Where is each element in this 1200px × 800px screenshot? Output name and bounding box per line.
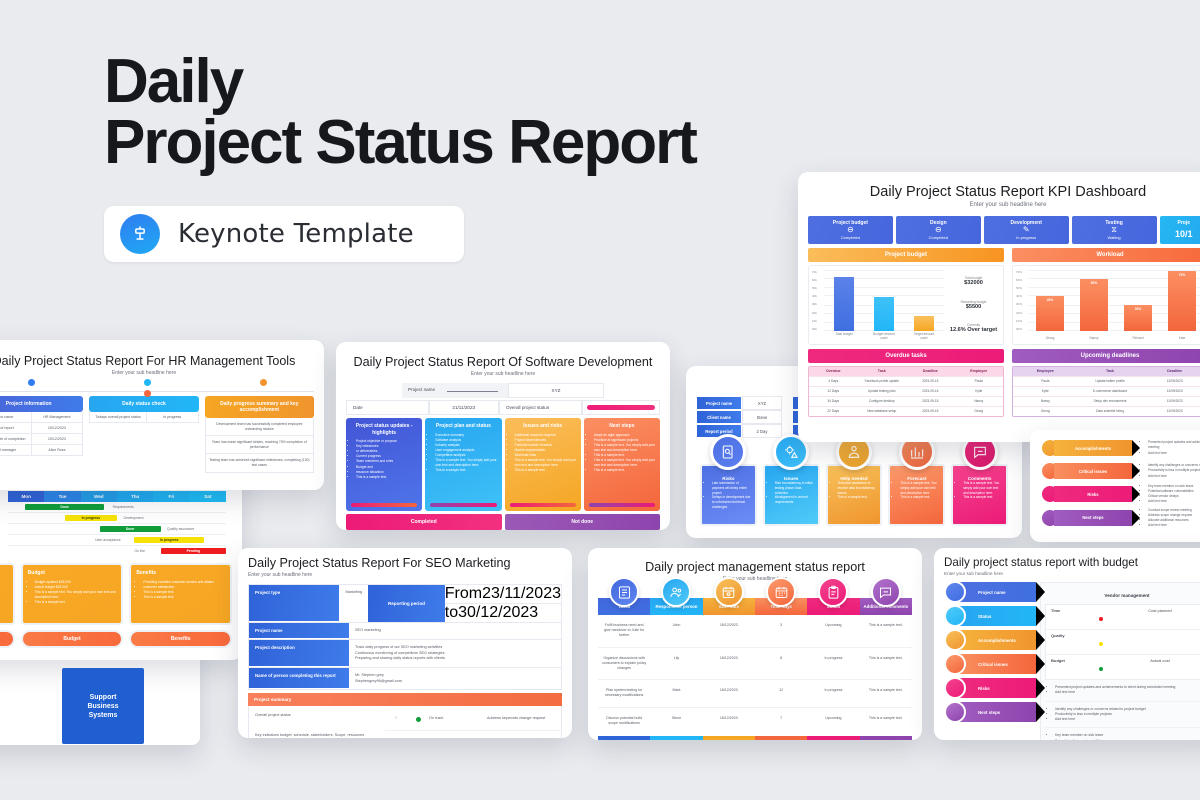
field-value: Marketing [339, 585, 368, 622]
summary-value: $32000 [947, 280, 1000, 286]
bullet: This is a sample text. You simply add yo… [435, 458, 497, 468]
chevron-label: Next steps [958, 702, 1036, 722]
bullet: This is a sample text. [356, 475, 418, 480]
gantt-day-wed: Wed [81, 491, 117, 502]
item-label: Next steps [978, 710, 1000, 715]
page-title: Daily Project Status Report [104, 52, 744, 174]
bullet-group: Identify any challenges or concerns rela… [1045, 702, 1200, 729]
table-row: Report period 2 Day [696, 424, 782, 438]
workload-bar-chart: 70%60%50%40%30%20%10%00% 40% 60% 30% 70% [1012, 265, 1200, 345]
table-header-row: Employee Task Deadline [1013, 367, 1200, 376]
alert-icon [944, 653, 966, 675]
slide-subtitle: Enter your sub headline here [598, 576, 912, 582]
budget-item-critical-issues[interactable]: Critical issues [944, 654, 1036, 674]
mgmt-table: Tasks Responsible person Start date Tota… [598, 598, 912, 740]
cell: This is a sample text. [860, 648, 912, 680]
column-progress-bar [589, 503, 655, 508]
table-row: Project description Track daily progress… [249, 640, 561, 668]
cell: 2023-09-15 [906, 386, 955, 396]
cell: Update testing plan [858, 386, 907, 396]
hr-column-daily-progress: Daily progress summary and key accomplis… [205, 396, 314, 473]
status-dot [407, 709, 429, 727]
chevron-label: Accomplishments [1054, 440, 1132, 456]
cell: Paula [955, 376, 1004, 386]
table-row: Kylie E-commerce dashboard 12/09/2023 [1013, 386, 1200, 396]
column-header: Deadline [906, 367, 955, 376]
far-row-next-steps[interactable]: Next steps Conduct scope review meeting … [1040, 508, 1200, 529]
field-value-date: 21/11/2023 [429, 400, 500, 415]
row-name: Quality [1046, 630, 1090, 654]
mid-card-comments[interactable]: Comments This is a sample text. You simp… [951, 464, 1008, 526]
row-key: Client name [696, 410, 742, 424]
slide-management-status-report[interactable]: Daily project management status report E… [588, 548, 922, 740]
gantt-row: Done Requirements [8, 502, 226, 513]
cell: In progress [807, 680, 859, 706]
row-value: Actual cost [1112, 655, 1200, 679]
column-header: Daily status check [89, 396, 198, 412]
row-label: Risks [1087, 492, 1098, 497]
slide-title: Daily project management status report [598, 560, 912, 574]
slide-kpi-dashboard[interactable]: Daily Project Status Report KPI Dashboar… [798, 172, 1200, 442]
slide-title: Daily Project Status Report For SEO Mark… [248, 556, 562, 570]
gantt-day-tue: Tue [44, 491, 80, 502]
row-value: XYZ [742, 396, 782, 410]
poster-stage: Daily Project Status Report Keynote Temp… [0, 0, 1200, 800]
cell: Setup dev environment [1078, 396, 1143, 406]
column-progress-bar [510, 503, 576, 508]
card-body: Forecast This is a sample text. You simp… [888, 464, 945, 526]
slide-seo-marketing[interactable]: Daily Project Status Report For SEO Mark… [238, 548, 572, 738]
slide-report-with-budget[interactable]: Daily project status report with budget … [934, 548, 1200, 740]
row-value: 15/12/2023 [31, 434, 83, 444]
chevron-label: Next steps [1054, 510, 1132, 526]
keynote-template-badge[interactable]: Keynote Template [104, 206, 464, 262]
cell: 12 Days [809, 386, 858, 396]
row-name: Budget [1046, 655, 1090, 679]
sw-column-issues-risks[interactable]: Issues and risks Additional resource req… [505, 418, 581, 511]
gantt-day-fri: Fri [153, 491, 189, 502]
pen-icon: ✎ [986, 226, 1067, 235]
item-label: Accomplishments [978, 638, 1016, 643]
calendar-days-icon [766, 577, 796, 607]
slide-title: Daily Project Status Report For HR Manag… [0, 354, 314, 368]
mid-card-risks[interactable]: Risks Late submission of payment will de… [700, 464, 757, 526]
column-progress-bar [351, 503, 417, 508]
budget-item-accomplishments[interactable]: Accomplishments [944, 630, 1036, 650]
row-key: Project name [0, 412, 31, 422]
cell: Configure desktop [858, 396, 907, 406]
table-row: Date of report 15/12/2023 [0, 423, 83, 434]
kpi-phase-design[interactable]: Design ⊖ Completed [896, 216, 981, 244]
table-header-row: Overdue Task Deadline Employee [809, 367, 1003, 376]
timeline-divider [0, 382, 314, 392]
bullet-group: Presented project updates and achievemen… [1045, 680, 1200, 702]
column-header: Task [1078, 367, 1143, 376]
timeline-dot [144, 390, 151, 397]
steps-icon [944, 701, 966, 723]
field-value: Track daily progress of our SEO marketin… [349, 640, 561, 667]
cell: New database setup [858, 406, 907, 416]
warning-people-icon [944, 677, 966, 699]
panel-header: Upcoming deadlines [1012, 349, 1200, 363]
table-row: Todays overall project status In progres… [89, 412, 198, 423]
far-row-accomplishments[interactable]: Accomplishments Presented project update… [1040, 438, 1200, 458]
bullet: This is a sample text. You simply add yo… [900, 481, 939, 495]
reporting-period-table: From23/11/2023 to30/12/2023 [445, 585, 561, 622]
bullet: Add text here [1055, 690, 1200, 695]
chart-plot: Total budgetBudget amount usedTarget amo… [824, 270, 944, 340]
bullet: Technical assistance to resolve data inc… [838, 481, 877, 495]
budget-item-project-name[interactable]: Project name [944, 582, 1036, 602]
radio-icon[interactable]: ○ [385, 715, 407, 721]
seo-fields-table: Project type Marketing Reporting period … [248, 584, 562, 690]
column-header: Employee [1013, 367, 1078, 376]
bullet: Late submission of payment will delay en… [712, 481, 751, 495]
sw-column-plan-status[interactable]: Project plan and status Executive summar… [425, 418, 501, 511]
cell: Organize discussions with consumers to e… [598, 648, 650, 680]
row-value: HR Management [31, 412, 83, 422]
period-to-label: to [445, 604, 458, 622]
minus-circle-icon: ⊖ [810, 226, 891, 235]
column-header-additional-comments: Additional comments [860, 598, 912, 615]
gantt-chart: Mon Tue Wed Thu Fri Sat Done Requirement… [8, 491, 226, 557]
kpi-phase-project-progress[interactable]: Proje 10/1 [1160, 216, 1200, 244]
panel-header: Workload [1012, 248, 1200, 262]
timeline-dot [260, 379, 267, 386]
phase-status: In progress [986, 235, 1067, 240]
table-row: Name of person completing this report Mr… [249, 668, 561, 689]
pill-button-benefits[interactable]: Benefits [129, 630, 232, 648]
bullet: This is a sample text. You simply add yo… [515, 458, 577, 468]
chart-y-axis: 70%60%50%40%30%20%10%00% [1016, 270, 1028, 340]
chart-x-axis: GeorgNancyRichardKate [1028, 336, 1200, 340]
phase-status: Completed [898, 235, 979, 240]
hourglass-icon: ⧖ [1074, 226, 1155, 235]
cell: 7 [755, 708, 807, 734]
mid-card-issues[interactable]: Issues Risk inconsistency in initial tes… [763, 464, 820, 526]
cell: 16/12/2023 [703, 648, 755, 680]
budget-item-status[interactable]: Status [944, 606, 1036, 626]
period-from-label: From [445, 585, 482, 603]
reporting-period-label: Reporting period [368, 585, 445, 622]
bar-target-amount-used [914, 316, 933, 331]
cell: Upcoming [807, 615, 859, 647]
bullet: Potential software vulnerabilities [1055, 739, 1200, 740]
item-label: Status [978, 614, 991, 619]
seo-status-rows: ○On trackAddress keywords change request… [385, 706, 561, 738]
vendor-management-label: Vendor management [1045, 587, 1200, 604]
table-row: Discuss potential build scope modificati… [598, 708, 912, 734]
status-action: Address keywords change request [487, 716, 561, 720]
column-header: Project plan and status [429, 423, 497, 430]
bullet: Add text here [1055, 717, 1200, 722]
table-row: Organize discussions with consumers to e… [598, 648, 912, 681]
mid-card-forecast[interactable]: Forecast This is a sample text. You simp… [888, 464, 945, 526]
bullet: This is a sample text. You simply add yo… [594, 443, 656, 453]
budget-summary: Total budget $32000 Remaining budget $55… [944, 270, 1000, 340]
card-body: Help needed Technical assistance to reso… [826, 464, 883, 526]
card-bullet: ating [0, 589, 8, 594]
phase-status: Waiting [1074, 235, 1155, 240]
gantt-bar-status: Done [25, 504, 103, 510]
cell: 12/09/2023 [1142, 406, 1200, 416]
status-dot [1090, 655, 1112, 679]
column-header-status: Status [807, 598, 859, 615]
kpi-phase-testing[interactable]: Testing ⧖ Waiting [1072, 216, 1157, 244]
chevron-label: Critical issues [1054, 463, 1132, 479]
chart-bars [824, 270, 944, 331]
panel-header: Overdue tasks [808, 349, 1004, 363]
far-row-risks[interactable]: Risks Key team member on sick leave Pote… [1040, 484, 1200, 505]
cell: John [650, 615, 702, 647]
podium-icon [120, 214, 160, 254]
bar-budget-amount-used [874, 297, 893, 331]
table-row: 12 Days Update testing plan 2023-09-15 K… [809, 386, 1003, 396]
calendar-start-icon [714, 577, 744, 607]
bullet: Add text here [1148, 499, 1200, 504]
side-box-line-2: Business [87, 703, 118, 710]
panel-workload: Workload 70%60%50%40%30%20%10%00% 40% 60… [1012, 248, 1200, 345]
chevron-label: Status [958, 606, 1036, 626]
row-bullets: Key team member on sick leave Potential … [1136, 484, 1200, 505]
table-row: Georg Data scientist hiring 12/09/2023 [1013, 406, 1200, 416]
row-value: Steve [742, 410, 782, 424]
column-header: Next steps [588, 423, 656, 430]
status-name: On track [429, 716, 487, 720]
cell: Data scientist hiring [1078, 406, 1143, 416]
chevron-label: Project name [958, 582, 1036, 602]
software-columns: Project status updates - highlights Proj… [346, 418, 660, 511]
column-header: Overdue [809, 367, 858, 376]
item-label: Project name [978, 590, 1006, 595]
row-label: Next steps [1082, 515, 1103, 520]
bullet: Add text here [1148, 523, 1200, 528]
item-label: Critical issues [978, 662, 1008, 667]
status-row[interactable]: ○Off trackConduct keywords review meetin… [385, 731, 561, 738]
cell: 2023-09-15 [906, 396, 955, 406]
pill-button[interactable] [0, 630, 15, 648]
budget-bar-chart: 70k60k50k40k30k20k10k00k [808, 265, 1004, 345]
card-body: Risks Late submission of payment will de… [700, 464, 757, 526]
cell: This is a sample text. [860, 680, 912, 706]
phase-status: Completed [810, 235, 891, 240]
sw-column-highlights[interactable]: Project status updates - highlights Proj… [346, 418, 422, 511]
gantt-bar-label: Quality assurance [167, 526, 194, 532]
kpi-phase-project-budget[interactable]: Project budget ⊖ Completed [808, 216, 893, 244]
chart-x-axis: Total budgetBudget amount usedTarget amo… [824, 332, 944, 340]
cell: E-commerce dashboard [1078, 386, 1143, 396]
slide-subtitle: Enter your sub headline here [808, 202, 1200, 208]
title-line-1: Daily [104, 47, 242, 116]
table-row: Project name HR Management [0, 412, 83, 423]
bullet: This is a sample text. [963, 495, 1002, 500]
cell: Facebook profile update [858, 376, 907, 386]
bullet: This is a sample text. [594, 468, 656, 473]
footer-not-done[interactable]: Not done [505, 514, 661, 530]
slide-title: Daily Project Status Report Of Software … [346, 355, 660, 369]
bullet-group: Key team member on sick leave Potential … [1045, 728, 1200, 740]
column-header-start-date: Start date [703, 598, 755, 615]
bar-richard: 30% [1124, 305, 1152, 331]
pill-button-budget[interactable]: Budget [21, 630, 124, 648]
software-footer: Completed Not done [346, 514, 660, 530]
table-row: 4 Days Facebook profile update 2023-09-1… [809, 376, 1003, 386]
row-label: Accomplishments [1075, 446, 1111, 451]
far-row-critical-issues[interactable]: Critical issues Identify any challenges … [1040, 461, 1200, 481]
cell: Fulfil business need and give handover t… [598, 615, 650, 647]
row-value: Alice Ross [31, 445, 83, 455]
bullet: Presented project updates and achievemen… [1148, 440, 1200, 450]
field-key-date: Date [346, 400, 429, 415]
chevron-label: Critical issues [958, 654, 1036, 674]
table-row: Project manager Alice Ross [0, 445, 83, 456]
cell: Kylie [955, 386, 1004, 396]
row-key: Project manager [0, 445, 31, 455]
budget-item-next-steps[interactable]: Next steps [944, 702, 1036, 722]
gantt-bar-label: Go live [134, 548, 145, 554]
chevron-label: Risks [958, 678, 1036, 698]
column-header: Task [858, 367, 907, 376]
slide-software-development[interactable]: Daily Project Status Report Of Software … [336, 342, 670, 530]
support-business-systems-box: Support Business Systems [62, 668, 144, 744]
overdue-table: Overdue Task Deadline Employee 4 Days Fa… [808, 366, 1004, 417]
bullet: Risk inconsistency in initial testing ph… [775, 481, 814, 495]
cell: 12/09/2023 [1142, 376, 1200, 386]
table-row: 22 Days New database setup 2023-09-15 Ge… [809, 406, 1003, 416]
bullet: This is a sample text. [900, 495, 939, 500]
badge-label: Keynote Template [178, 219, 414, 249]
mid-table-left: Project name XYZ Client name Steve Repor… [696, 396, 782, 438]
cell: Steve [650, 708, 702, 734]
hotel-card-budget[interactable]: Budget Budget updated $25,000 Actual bud… [21, 563, 124, 625]
indicator-label: Key indicators budget, schedule, stakeho… [249, 726, 385, 738]
slide-subtitle: Enter your sub headline here [346, 371, 660, 377]
kpi-phase-development[interactable]: Development ✎ In progress [984, 216, 1069, 244]
chart-plot: 40% 60% 30% 70% GeorgNancyRichardKate [1028, 270, 1200, 340]
cell: 16/12/2023 [703, 680, 755, 706]
cell: This is a sample text. [860, 708, 912, 734]
vendor-table: Time Cost planned Quality Budget Actual … [1045, 604, 1200, 680]
table-row: Fulfil business need and give handover t… [598, 615, 912, 648]
overall-status-bar [582, 400, 661, 415]
cell: Kylie [1013, 386, 1078, 396]
hr-columns: Project information Project name HR Mana… [0, 396, 314, 473]
gantt-row: In progress Development [8, 513, 226, 524]
gantt-bar-status: In progress [65, 515, 117, 521]
budget-item-risks[interactable]: Risks [944, 678, 1036, 698]
bullet-row: Team has made significant strides, reach… [205, 436, 314, 454]
sw-column-next-steps[interactable]: Next steps Adopt an agile approach Prior… [584, 418, 660, 511]
clipboard-icon [818, 577, 848, 607]
table-row: Time Cost planned [1046, 605, 1200, 630]
table-row: Project name XYZ [696, 396, 782, 410]
gantt-day-thu: Thu [117, 491, 153, 502]
card-bullet: This is a sample text. You simply add yo… [35, 590, 117, 600]
gantt-bar-status: In progress [134, 537, 204, 543]
cell: 16/12/2023 [703, 615, 755, 647]
slide-status-rows-partial[interactable]: Accomplishments Presented project update… [1030, 430, 1200, 542]
gantt-bar-label: User acceptance [95, 537, 120, 543]
table-row: Plan system testing for necessary modifi… [598, 680, 912, 707]
status-row[interactable]: ○On trackAddress keywords change request [385, 706, 561, 731]
hr-column-project-information: Project information Project name HR Mana… [0, 396, 83, 473]
table-row: Paula Update twitter profile 12/09/2023 [1013, 376, 1200, 386]
slide-subtitle: Enter your sub headline here [944, 571, 1200, 576]
timeline-dot [28, 379, 35, 386]
cell: Georg [955, 406, 1004, 416]
cell: Nancy [1013, 396, 1078, 406]
gantt-row: Done Quality assurance [8, 524, 226, 535]
row-bullets: Presented project updates and achievemen… [1136, 440, 1200, 455]
cell: 34 Days [809, 396, 858, 406]
cell: Paula [1013, 376, 1078, 386]
side-box-line-1: Support [90, 694, 117, 701]
gantt-row: Go live Pending [8, 546, 226, 557]
row-name: Time [1046, 605, 1090, 629]
cell: 2023-09-15 [906, 406, 955, 416]
period-from-value: 23/11/2023 [482, 585, 561, 603]
people-icon [661, 577, 691, 607]
gantt-bar-label: Requirements [113, 504, 134, 510]
document-search-icon [710, 434, 746, 470]
item-label: Risks [978, 686, 990, 691]
column-header: Project information [0, 396, 83, 412]
hr-column-daily-status-check: Daily status check Todays overall projec… [89, 396, 198, 473]
bullet: Delays in development due to unforeseen … [712, 495, 751, 509]
deadlines-table: Employee Task Deadline Paula Update twit… [1012, 366, 1200, 417]
row-key: Project name [696, 396, 742, 410]
summary-value: $5500 [947, 304, 1000, 310]
hotel-card[interactable]: monitor ty action ating [0, 563, 15, 625]
panel-header: Project budget [808, 248, 1004, 262]
cell: 16/12/2023 [703, 708, 755, 734]
field-value: SEO marketing [349, 623, 561, 639]
minus-circle-icon: ⊖ [898, 226, 979, 235]
footer-completed[interactable]: Completed [346, 514, 502, 530]
column-header: Daily progress summary and key accomplis… [205, 396, 314, 418]
title-line-2: Project Status Report [104, 113, 744, 174]
column-header-tasks: Tasks [598, 598, 650, 615]
chart-y-axis: 70k60k50k40k30k20k10k00k [812, 270, 824, 340]
cell: Georg [1013, 406, 1078, 416]
bar-nancy: 60% [1080, 279, 1108, 331]
slide-hr-management[interactable]: Daily Project Status Report For HR Manag… [0, 340, 324, 490]
bullet: Misalignment in current requirements [775, 495, 814, 505]
period-to-value: 30/12/2023 [458, 604, 538, 622]
cell: 12/09/2023 [1142, 386, 1200, 396]
budget-body: Project name Status Accomplishments Crit… [944, 582, 1200, 740]
row-key: Projected date of completion [0, 434, 31, 444]
bar-kate: 70% [1168, 271, 1196, 331]
cell: Update twitter profile [1078, 376, 1143, 386]
cell: This is a sample text. [860, 615, 912, 647]
card-title: Budget [28, 570, 117, 576]
slide-title: Daily project status report with budget [944, 556, 1200, 569]
kpi-top-panels: Project budget 70k60k50k40k30k20k10k00k [808, 248, 1200, 345]
trophy-icon [944, 629, 966, 651]
cell: In progress [807, 648, 859, 680]
chart-bars: 40% 60% 30% 70% [1028, 270, 1200, 331]
gantt-bar-status: Done [100, 526, 161, 532]
mid-card-help-needed[interactable]: Help needed Technical assistance to reso… [826, 464, 883, 526]
kpi-phase-strip: Project budget ⊖ Completed Design ⊖ Comp… [808, 216, 1200, 244]
bullet: This is a sample text. You simply add yo… [594, 458, 656, 468]
field-key: Project description [249, 640, 349, 667]
seo-status-grid: Overall project status Key indicators bu… [248, 706, 562, 738]
hotel-card-benefits[interactable]: Benefits Providing excellent customer se… [129, 563, 232, 625]
bullet: This is a sample text. [515, 468, 577, 473]
cell: 3 [755, 615, 807, 647]
